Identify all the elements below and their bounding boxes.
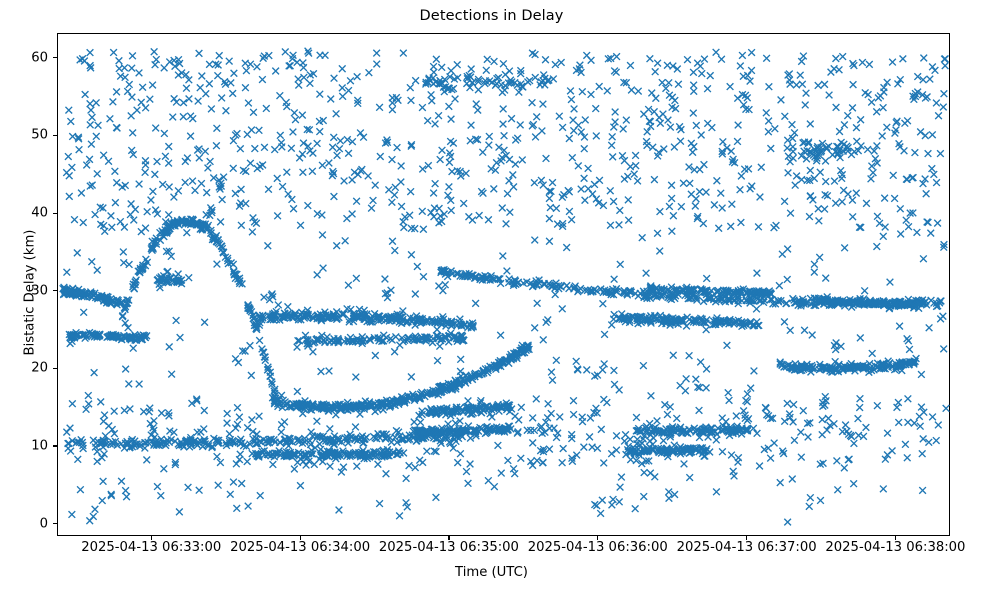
x-tick-label-0: 2025-04-13 06:33:00 [81, 540, 221, 555]
x-tick-label-3: 2025-04-13 06:36:00 [528, 540, 668, 555]
page-title: Detections in Delay [0, 8, 983, 24]
y-tick-mark [53, 368, 57, 369]
x-tick-label-5: 2025-04-13 06:38:00 [825, 540, 965, 555]
x-tick-mark [448, 536, 449, 540]
plot-axes [57, 33, 950, 536]
y-tick-label-50: 50 [0, 128, 48, 143]
y-tick-mark [53, 290, 57, 291]
y-tick-mark [53, 135, 57, 136]
x-tick-label-1: 2025-04-13 06:34:00 [230, 540, 370, 555]
x-axis-label: Time (UTC) [0, 565, 983, 580]
y-tick-label-0: 0 [0, 516, 48, 531]
x-tick-mark [746, 536, 747, 540]
x-tick-mark [597, 536, 598, 540]
x-tick-mark [895, 536, 896, 540]
x-tick-mark [300, 536, 301, 540]
x-tick-mark [151, 536, 152, 540]
y-tick-label-60: 60 [0, 50, 48, 65]
x-tick-label-4: 2025-04-13 06:37:00 [677, 540, 817, 555]
scatter-plot-canvas [58, 34, 951, 537]
y-tick-mark [53, 57, 57, 58]
matplotlib-figure: Detections in Delay 0102030405060 2025-0… [0, 0, 983, 590]
y-axis-label: Bistatic Delay (km) [23, 143, 38, 443]
y-tick-mark [53, 213, 57, 214]
y-tick-mark [53, 523, 57, 524]
x-tick-label-2: 2025-04-13 06:35:00 [379, 540, 519, 555]
y-tick-mark [53, 445, 57, 446]
